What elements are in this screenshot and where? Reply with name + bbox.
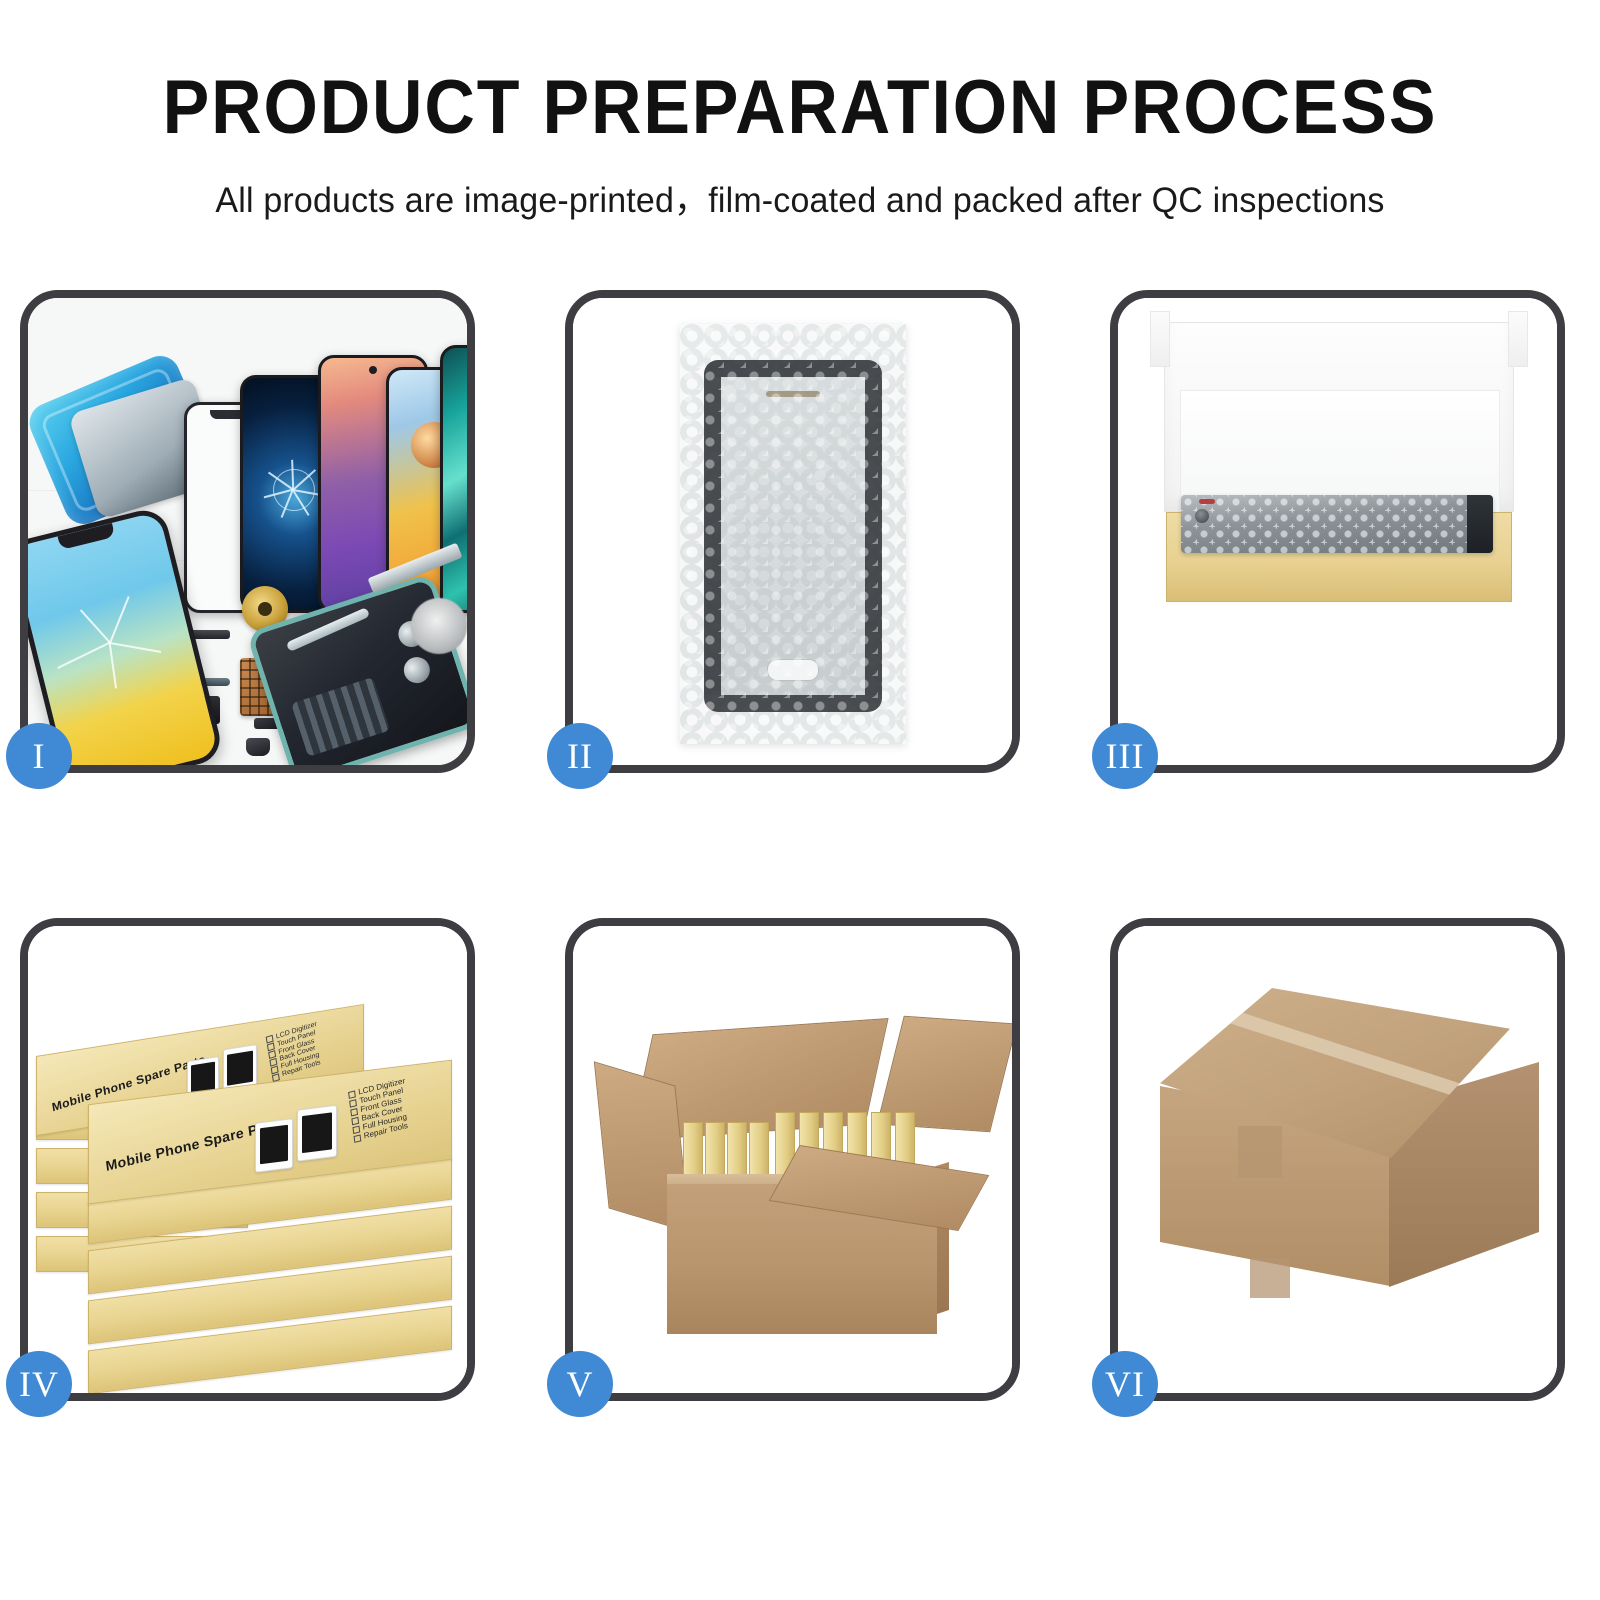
box-phone-thumb [255, 1118, 293, 1173]
panel-4-image: Mobile Phone Spare Parts LCD Digitizer T… [28, 926, 467, 1393]
process-row-2: Mobile Phone Spare Parts LCD Digitizer T… [20, 918, 1580, 1401]
brush-icon [411, 598, 467, 654]
parts-collage-scene [28, 298, 467, 765]
panel-badge-6: VI [1092, 1351, 1158, 1417]
panel-stacked-retail-boxes[interactable]: Mobile Phone Spare Parts LCD Digitizer T… [20, 918, 475, 1401]
teal-display-icon [440, 345, 467, 613]
tape-patch [1238, 1126, 1282, 1178]
mailer-box-scene [1118, 298, 1557, 765]
panel-badge-1: I [6, 723, 72, 789]
box-tray-icon [1166, 512, 1512, 602]
speaker-module-icon [246, 738, 270, 756]
bubble-wrapped-screen-icon [680, 324, 906, 744]
panel-open-carton-filled[interactable]: V [565, 918, 1020, 1401]
panel-bubble-wrapped-screen[interactable]: II [565, 290, 1020, 773]
panel-badge-2: II [547, 723, 613, 789]
panel-spare-parts-collage[interactable]: I [20, 290, 475, 773]
page-subtitle: All products are image-printed，film-coat… [24, 172, 1576, 223]
box-stack-scene: Mobile Phone Spare Parts LCD Digitizer T… [28, 926, 467, 1393]
bubble-wrap-scene [573, 298, 1012, 765]
page-title: PRODUCT PREPARATION PROCESS [64, 70, 1536, 146]
page-header: PRODUCT PREPARATION PROCESS All products… [0, 0, 1600, 223]
panel-3-image [1118, 298, 1557, 765]
open-carton-scene [573, 926, 1012, 1393]
panel-badge-3: III [1092, 723, 1158, 789]
panel-6-image [1118, 926, 1557, 1393]
process-row-1: I II [20, 290, 1580, 773]
panel-2-image [573, 298, 1012, 765]
screen-bezel-icon [704, 360, 882, 712]
panel-1-image [28, 298, 467, 765]
panel-sealed-carton[interactable]: VI [1110, 918, 1565, 1401]
home-button-icon [767, 659, 819, 681]
tape-patch [1250, 1258, 1290, 1298]
box-phone-thumb [297, 1105, 337, 1162]
panel-badge-4: IV [6, 1351, 72, 1417]
sealed-carton-scene [1118, 926, 1557, 1393]
panel-badge-5: V [547, 1351, 613, 1417]
panel-open-mailer-box[interactable]: III [1110, 290, 1565, 773]
earpiece-icon [766, 391, 820, 397]
panel-5-image [573, 926, 1012, 1393]
process-grid: I II [20, 290, 1580, 1401]
wrapped-screen-icon [1181, 495, 1493, 553]
